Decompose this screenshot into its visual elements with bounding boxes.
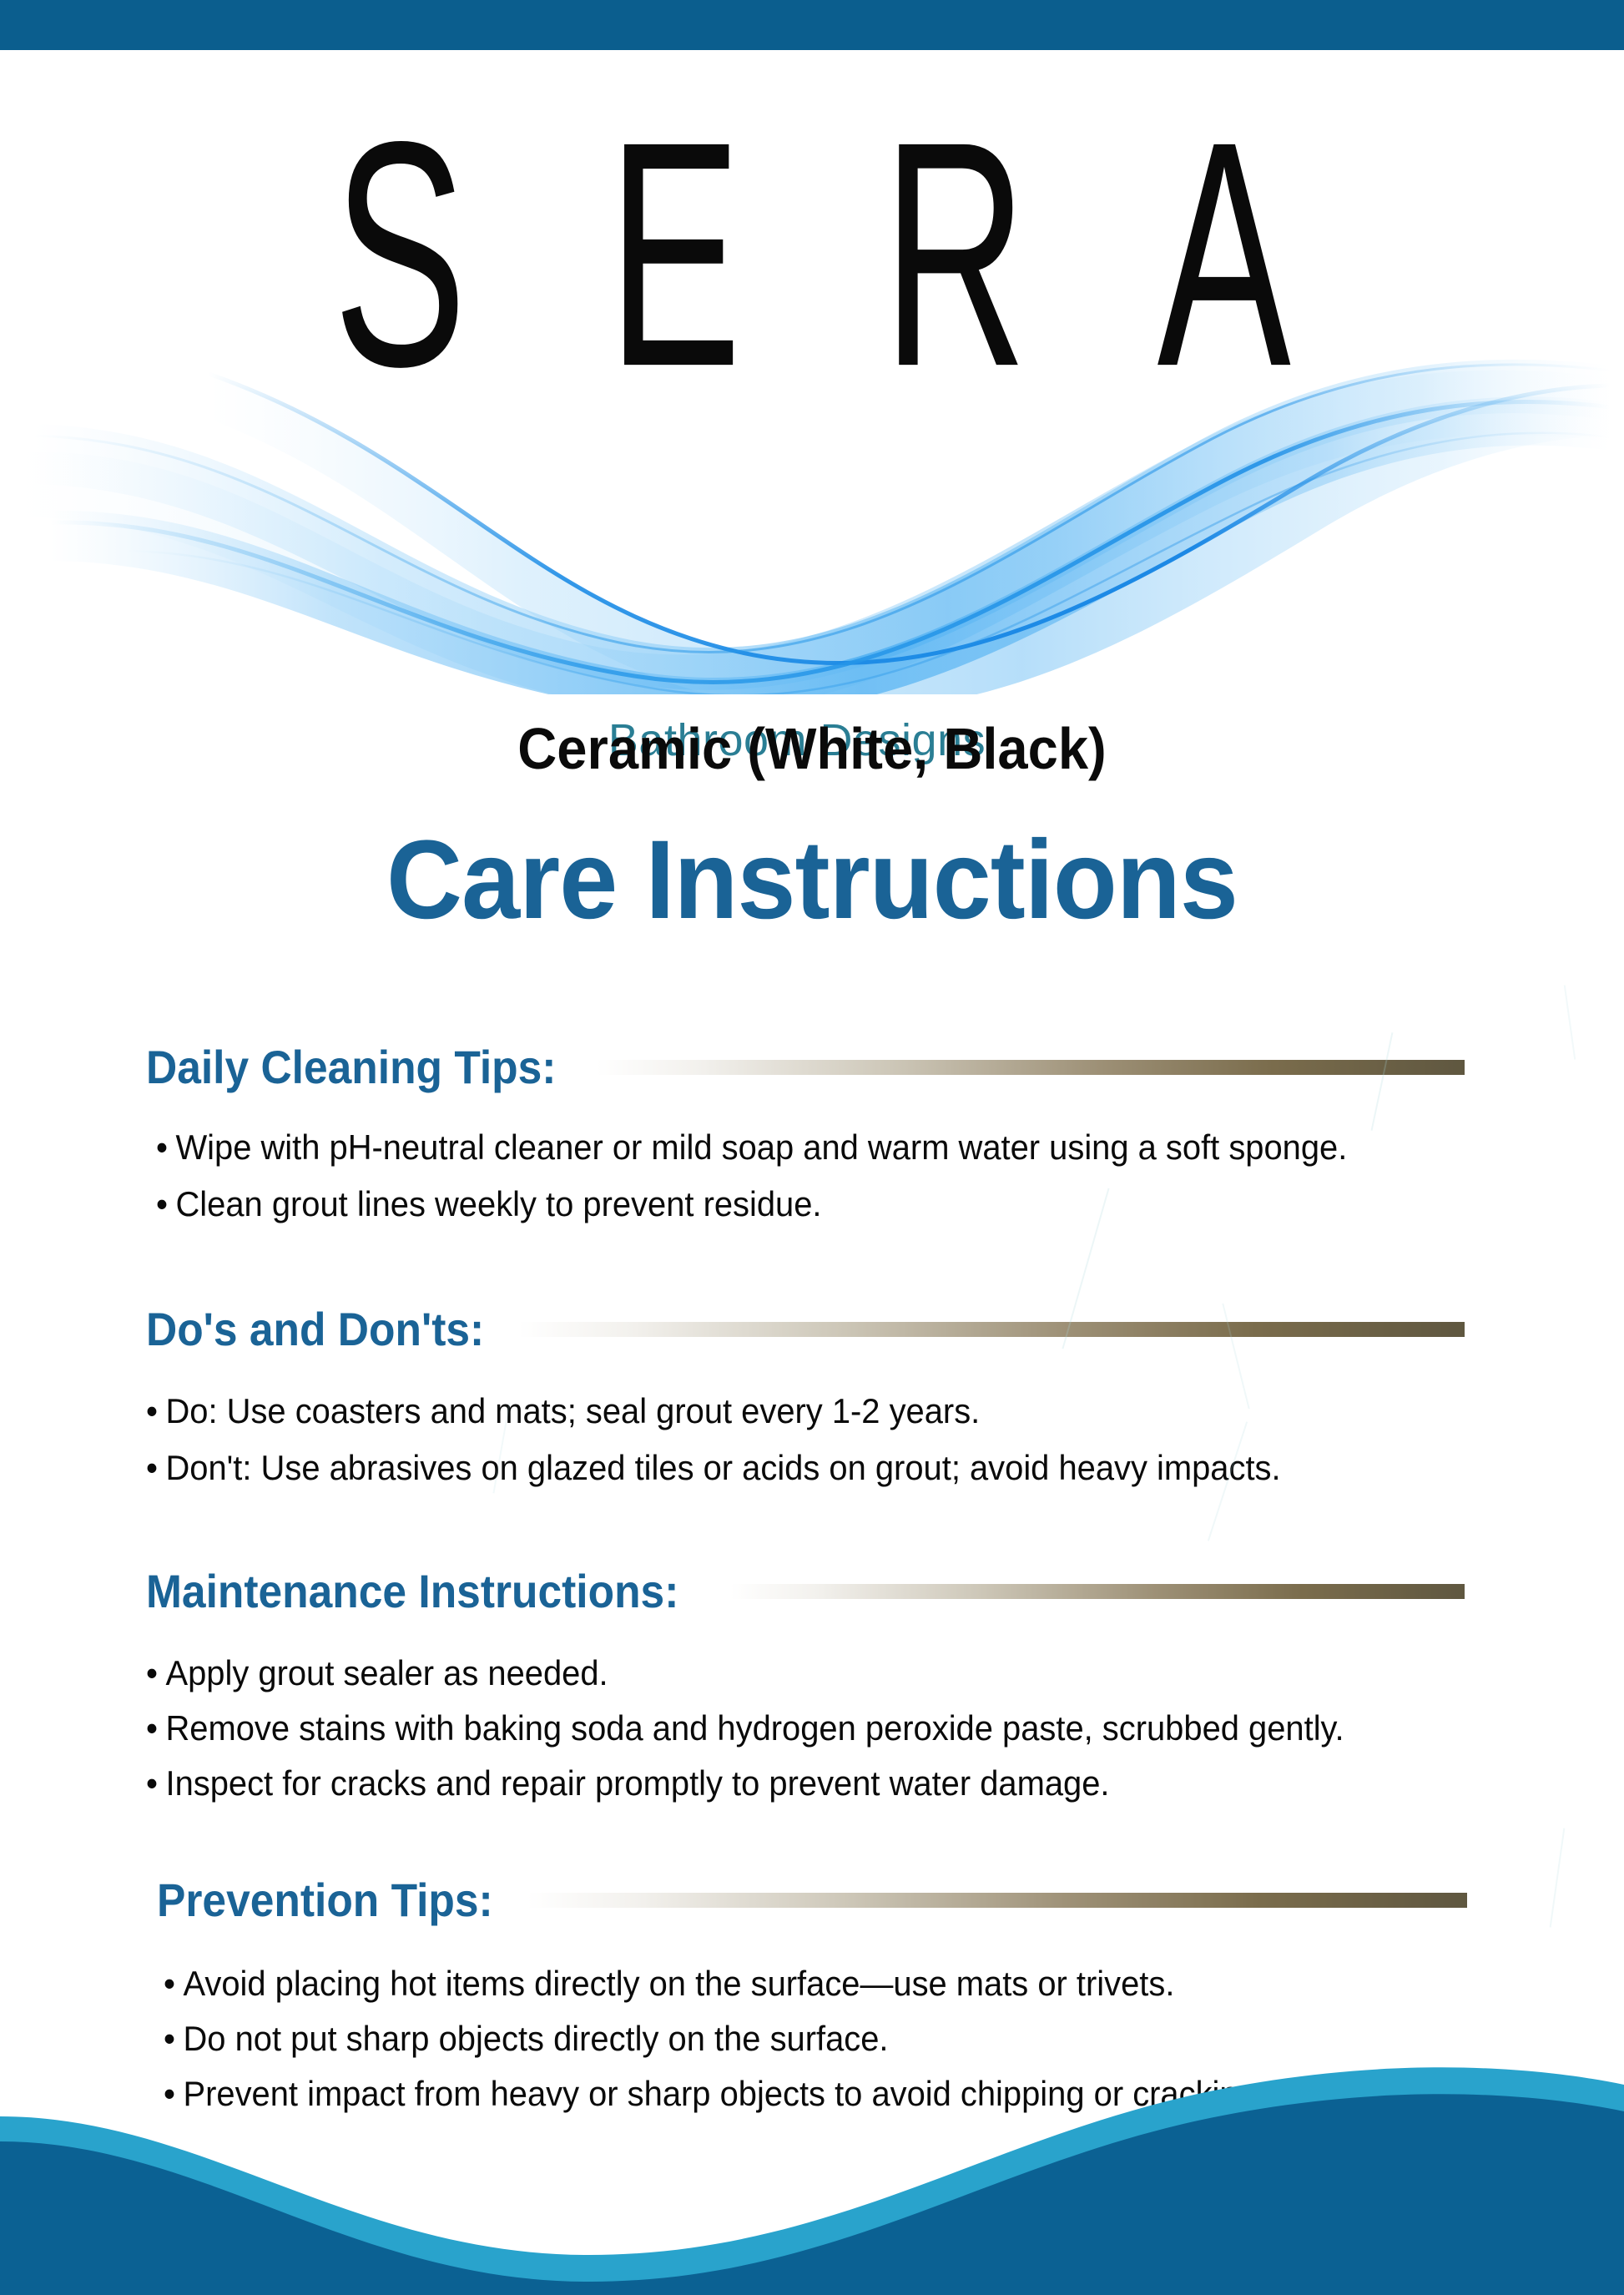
list-item-text: Apply grout sealer as needed. <box>165 1653 608 1692</box>
product-subtitle: Ceramic (White, Black) <box>57 719 1567 778</box>
bullet-icon: • <box>146 1391 158 1430</box>
decorative-wave-graphic <box>0 344 1624 694</box>
section-header: Do's and Don'ts: <box>146 1304 1465 1355</box>
section-divider-rule <box>730 1584 1465 1599</box>
top-accent-bar <box>0 0 1624 50</box>
list-item: •Do: Use coasters and mats; seal grout e… <box>146 1394 1399 1429</box>
section-divider-rule <box>518 1322 1465 1337</box>
section-dos-and-donts: Do's and Don'ts: •Do: Use coasters and m… <box>146 1304 1465 1485</box>
list-item-text: Remove stains with baking soda and hydro… <box>165 1708 1344 1748</box>
bullet-icon: • <box>156 1184 168 1223</box>
list-item: •Don't: Use abrasives on glazed tiles or… <box>146 1450 1399 1485</box>
instructions-sections: Daily Cleaning Tips: •Wipe with pH-neutr… <box>0 1042 1624 2111</box>
bullet-icon: • <box>164 1964 175 2003</box>
list-item: •Remove stains with baking soda and hydr… <box>146 1711 1399 1746</box>
bullet-icon: • <box>146 1763 158 1803</box>
bullet-icon: • <box>146 1708 158 1748</box>
list-item: •Clean grout lines weekly to prevent res… <box>156 1187 1400 1222</box>
list-item-text: Wipe with pH-neutral cleaner or mild soa… <box>175 1127 1347 1167</box>
section-divider-rule <box>597 1060 1465 1075</box>
bullet-icon: • <box>156 1127 168 1167</box>
list-item-text: Don't: Use abrasives on glazed tiles or … <box>165 1448 1280 1487</box>
section-header: Prevention Tips: <box>157 1874 1467 1926</box>
list-item: •Wipe with pH-neutral cleaner or mild so… <box>156 1130 1400 1165</box>
section-heading-label: Maintenance Instructions: <box>146 1568 678 1615</box>
section-heading-label: Daily Cleaning Tips: <box>146 1044 556 1091</box>
list-item-text: Do: Use coasters and mats; seal grout ev… <box>165 1391 980 1430</box>
bullet-list: •Apply grout sealer as needed. •Remove s… <box>146 1656 1465 1801</box>
bullet-icon: • <box>146 1653 158 1692</box>
section-heading-label: Prevention Tips: <box>157 1877 493 1924</box>
bullet-icon: • <box>146 1448 158 1487</box>
section-divider-rule <box>527 1893 1467 1908</box>
brand-logo-block: S E R A <box>0 93 1624 711</box>
section-heading-label: Do's and Don'ts: <box>146 1306 484 1353</box>
list-item: •Apply grout sealer as needed. <box>146 1656 1399 1691</box>
list-item: •Avoid placing hot items directly on the… <box>164 1966 1402 2001</box>
list-item-text: Avoid placing hot items directly on the … <box>183 1964 1174 2003</box>
list-item-text: Clean grout lines weekly to prevent resi… <box>175 1184 821 1223</box>
bullet-list: •Wipe with pH-neutral cleaner or mild so… <box>156 1130 1465 1222</box>
bullet-list: •Do: Use coasters and mats; seal grout e… <box>146 1394 1465 1485</box>
list-item: •Inspect for cracks and repair promptly … <box>146 1766 1399 1801</box>
list-item-text: Inspect for cracks and repair promptly t… <box>165 1763 1109 1803</box>
section-maintenance-instructions: Maintenance Instructions: •Apply grout s… <box>146 1566 1465 1801</box>
section-header: Daily Cleaning Tips: <box>146 1042 1465 1093</box>
section-daily-cleaning-tips: Daily Cleaning Tips: •Wipe with pH-neutr… <box>146 1042 1465 1222</box>
page-title: Care Instructions <box>48 825 1575 936</box>
section-header: Maintenance Instructions: <box>146 1566 1465 1617</box>
care-instructions-poster: S E R A <box>0 0 1624 2295</box>
footer-wave-graphic <box>0 2045 1624 2295</box>
